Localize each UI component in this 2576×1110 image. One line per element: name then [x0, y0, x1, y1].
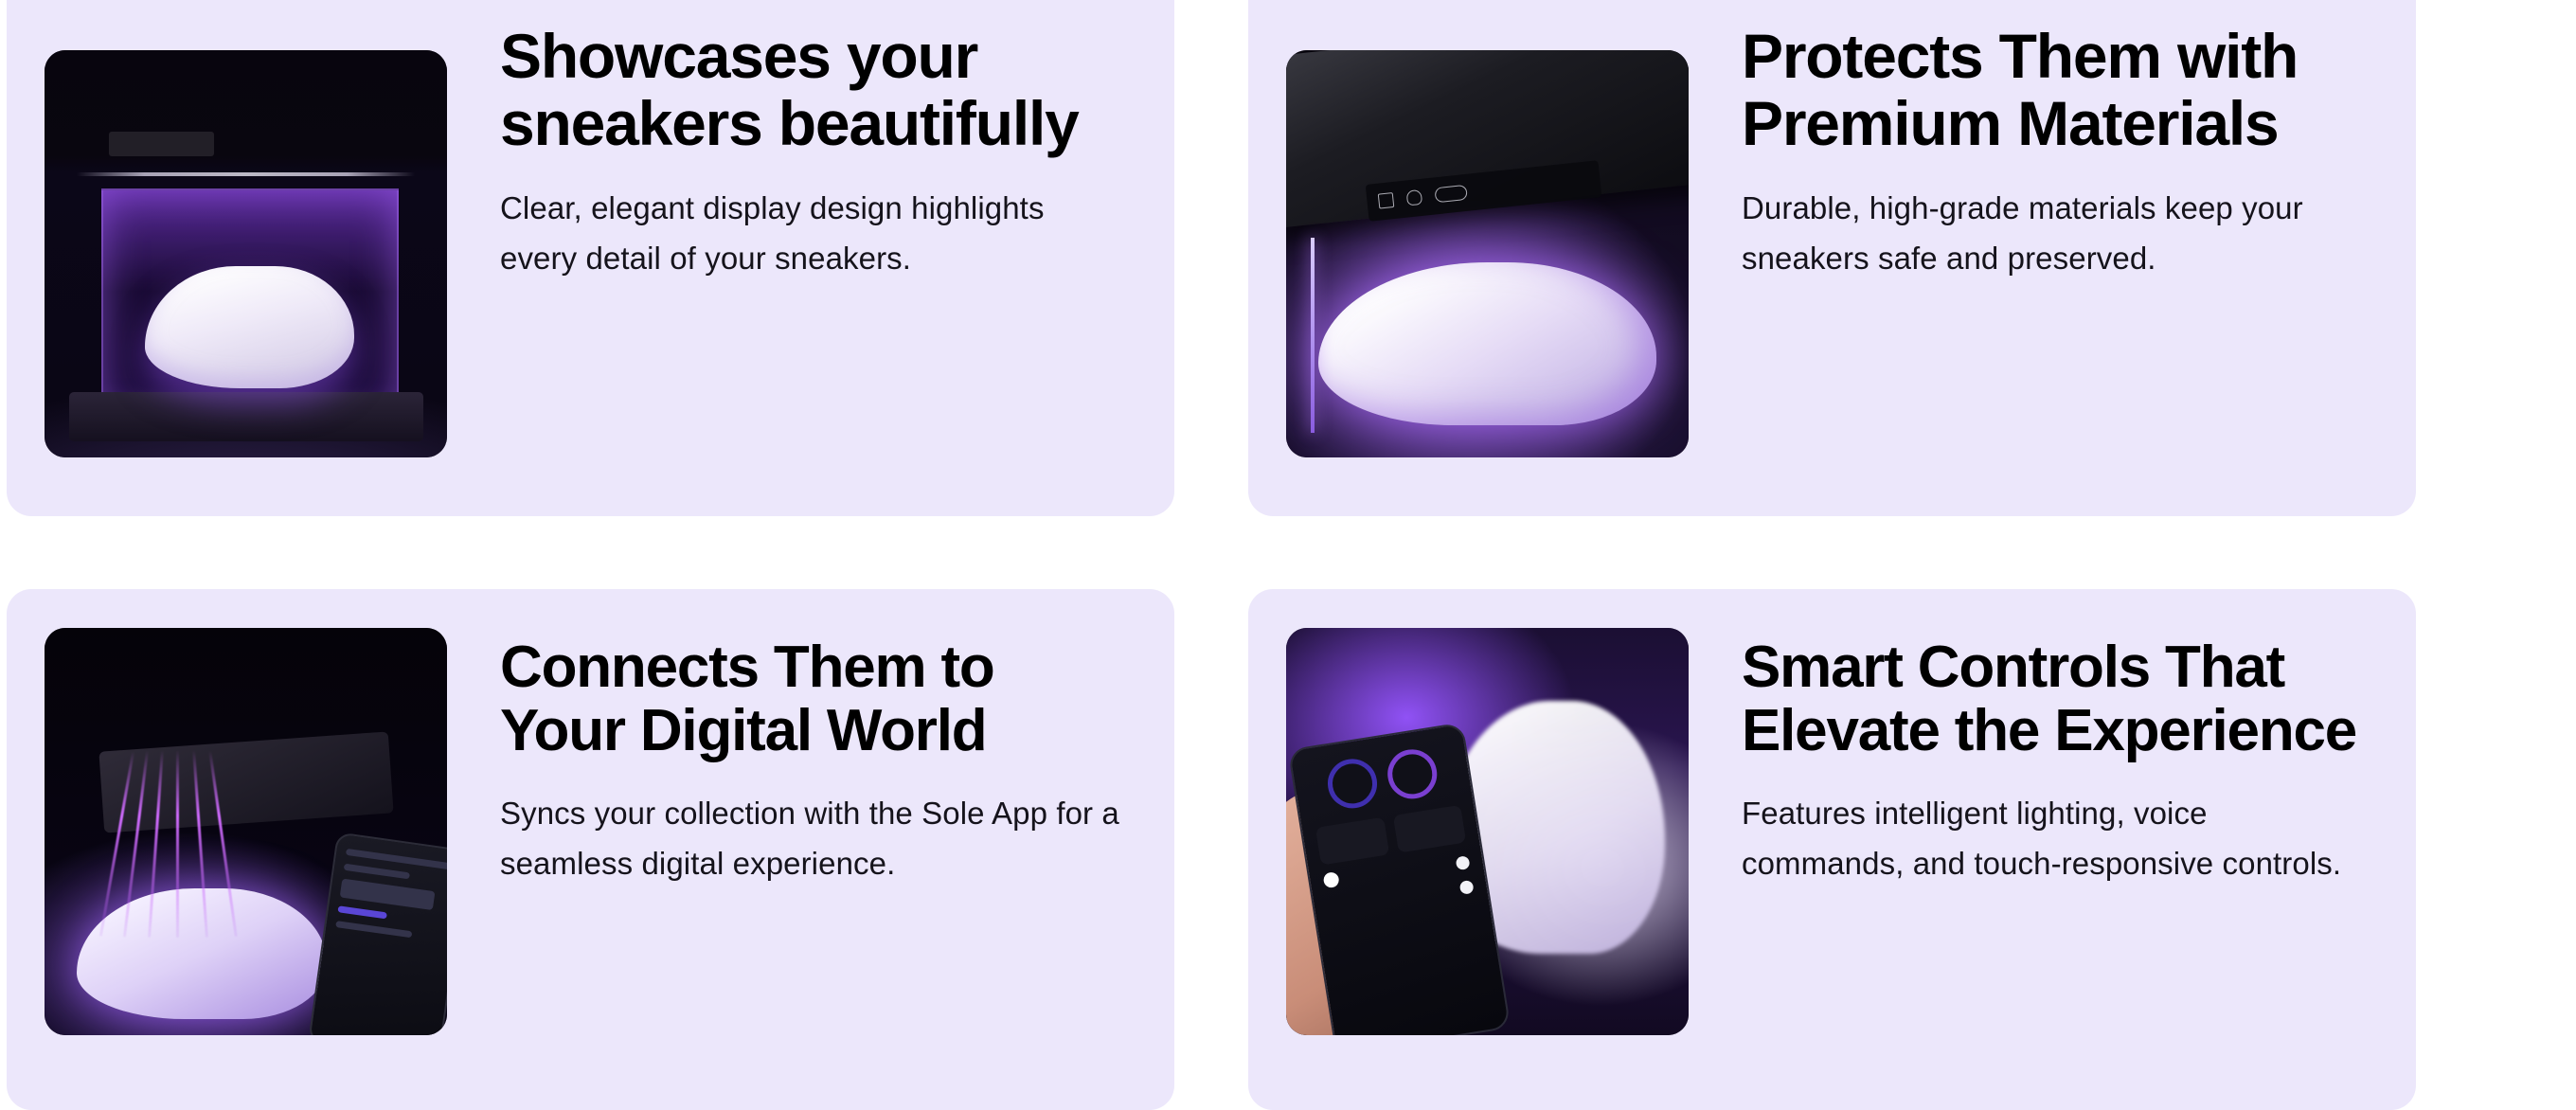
feature-title: Connects Them to Your Digital World — [500, 636, 1131, 763]
feature-image-protects — [1286, 50, 1689, 457]
smart-controls-photo — [1286, 628, 1689, 1035]
feature-image-smart-controls — [1286, 628, 1689, 1035]
acrylic-edge-icon — [1311, 238, 1315, 433]
feature-image-showcases — [45, 50, 447, 457]
feature-description: Syncs your collection with the Sole App … — [500, 788, 1125, 889]
feature-text-protects: Protects Them with Premium Materials Dur… — [1689, 0, 2416, 283]
case-lid-edge-icon — [77, 172, 415, 176]
panel-display-icon — [1434, 185, 1467, 203]
feature-card-showcases[interactable]: Showcases your sneakers beautifully Clea… — [7, 0, 1174, 516]
feature-card-grid: Showcases your sneakers beautifully Clea… — [0, 0, 2576, 1110]
panel-button-icon — [1378, 192, 1395, 209]
display-case-photo — [45, 50, 447, 457]
lid-control-strip — [1366, 160, 1601, 221]
panel-drop-icon — [1406, 189, 1423, 206]
feature-card-connects[interactable]: Connects Them to Your Digital World Sync… — [7, 589, 1174, 1110]
feature-title: Protects Them with Premium Materials — [1742, 23, 2372, 158]
feature-text-showcases: Showcases your sneakers beautifully Clea… — [447, 0, 1174, 283]
case-base-icon — [69, 392, 423, 441]
digital-world-photo — [45, 628, 447, 1035]
premium-materials-photo — [1286, 50, 1689, 457]
feature-title: Smart Controls That Elevate the Experien… — [1742, 636, 2372, 763]
phone-mockup-icon — [308, 832, 447, 1035]
feature-title: Showcases your sneakers beautifully — [500, 23, 1131, 158]
feature-image-connects — [45, 628, 447, 1035]
light-streaks-icon — [109, 750, 270, 938]
feature-description: Durable, high-grade materials keep your … — [1742, 183, 2367, 284]
feature-card-protects[interactable]: Protects Them with Premium Materials Dur… — [1248, 0, 2416, 516]
feature-card-smart-controls[interactable]: Smart Controls That Elevate the Experien… — [1248, 589, 2416, 1110]
feature-description: Features intelligent lighting, voice com… — [1742, 788, 2367, 889]
case-control-panel-icon — [109, 132, 214, 156]
feature-description: Clear, elegant display design highlights… — [500, 183, 1125, 284]
feature-text-smart-controls: Smart Controls That Elevate the Experien… — [1689, 589, 2416, 889]
feature-text-connects: Connects Them to Your Digital World Sync… — [447, 589, 1174, 889]
